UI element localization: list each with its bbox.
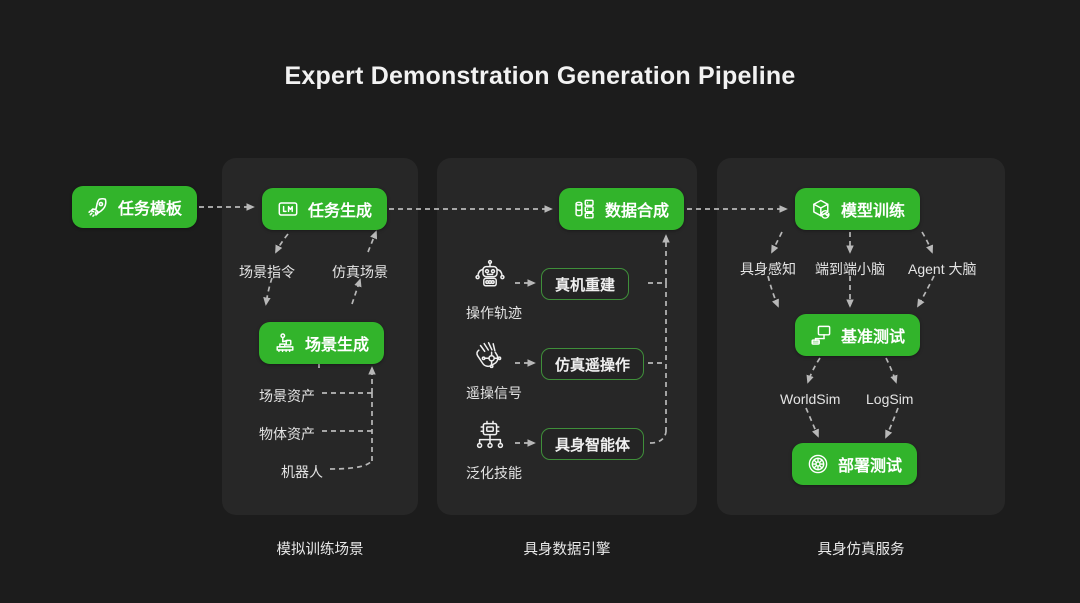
label-object-asset: 物体资产	[259, 424, 315, 444]
node-simulated-teleoperation[interactable]: 仿真遥操作	[541, 348, 644, 380]
label-generalization-skill: 泛化技能	[466, 463, 522, 483]
node-model-training[interactable]: 模型训练	[795, 188, 920, 230]
panel-caption-data-engine: 具身数据引擎	[437, 538, 697, 559]
robot-icon	[470, 258, 510, 298]
node-label: 数据合成	[605, 197, 669, 221]
panel-caption-simulation-training: 模拟训练场景	[222, 538, 418, 559]
node-label: 仿真遥操作	[555, 354, 630, 375]
label-worldsim: WorldSim	[780, 391, 840, 407]
label-agent-brain: Agent 大脑	[908, 259, 976, 279]
label-teleop-signal: 遥操信号	[466, 383, 522, 403]
glove-icon	[470, 338, 510, 378]
node-label: 任务模板	[118, 195, 182, 219]
node-deployment-test[interactable]: 部署测试	[792, 443, 917, 485]
monitor-icon	[810, 324, 832, 346]
page-title: Expert Demonstration Generation Pipeline	[0, 62, 1080, 91]
diagram-canvas: Expert Demonstration Generation Pipeline	[0, 0, 1080, 603]
label-scene-asset: 场景资产	[259, 386, 315, 406]
node-data-synthesis[interactable]: 数据合成	[559, 188, 684, 230]
node-task-template[interactable]: 任务模板	[72, 186, 197, 228]
label-robot: 机器人	[281, 462, 323, 482]
label-operation-trajectory: 操作轨迹	[466, 303, 522, 323]
label-scene-command: 场景指令	[239, 262, 295, 282]
gear-circle-icon	[807, 453, 829, 475]
node-label: 真机重建	[555, 274, 615, 295]
database-icon	[574, 198, 596, 220]
panel-caption-simulation-service: 具身仿真服务	[717, 538, 1005, 559]
label-end-to-end-cerebellum: 端到端小脑	[815, 259, 885, 279]
node-real-machine-reconstruction[interactable]: 真机重建	[541, 268, 629, 300]
node-label: 基准测试	[841, 323, 905, 347]
code-tag-icon	[277, 198, 299, 220]
node-task-generation[interactable]: 任务生成	[262, 188, 387, 230]
robot-arm-icon	[274, 332, 296, 354]
label-sim-scene: 仿真场景	[332, 262, 388, 282]
node-benchmark-test[interactable]: 基准测试	[795, 314, 920, 356]
cube-icon	[810, 198, 832, 220]
node-label: 场景生成	[305, 331, 369, 355]
chip-network-icon	[470, 418, 510, 458]
label-logsim: LogSim	[866, 391, 913, 407]
label-embodied-perception: 具身感知	[740, 259, 796, 279]
node-label: 具身智能体	[555, 434, 630, 455]
node-embodied-agent[interactable]: 具身智能体	[541, 428, 644, 460]
node-label: 模型训练	[841, 197, 905, 221]
node-scene-generation[interactable]: 场景生成	[259, 322, 384, 364]
node-label: 任务生成	[308, 197, 372, 221]
node-label: 部署测试	[838, 452, 902, 476]
rocket-icon	[87, 196, 109, 218]
